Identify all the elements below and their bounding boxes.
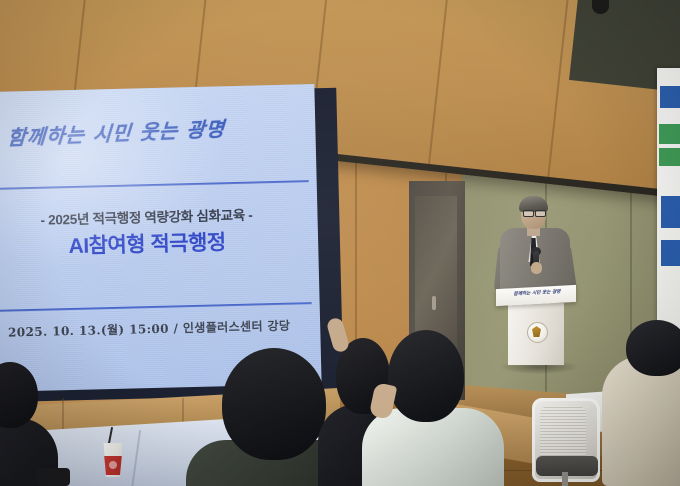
slide-rule-bottom: [0, 302, 312, 312]
roll-up-banner: [657, 68, 680, 348]
door-handle-icon[interactable]: [432, 296, 436, 310]
banner-block-blue: [660, 86, 680, 108]
banner-block-green: [659, 148, 680, 166]
speaker-glasses-icon: [523, 210, 534, 217]
speaker-hand: [531, 262, 542, 274]
banner-block-blue: [661, 196, 680, 228]
slide-datetime-venue: 2025. 10. 13.(월) 15:00 / 인생플러스센터 강당: [0, 316, 308, 341]
attendee-center-head: [222, 348, 326, 460]
banner-block-green: [659, 124, 680, 144]
attendee-light-shirt-head: [388, 330, 464, 422]
attendee-vest-head: [626, 320, 680, 376]
slide-title: AI참여형 적극행정: [0, 224, 306, 262]
attendee-vest-body: [602, 356, 680, 486]
banner-block-blue: [661, 240, 680, 266]
slide-handwritten-slogan: 함께하는 시민 웃는 광명: [7, 111, 279, 151]
cup-logo-icon: [109, 461, 117, 469]
slide-rule-top: [0, 180, 309, 190]
table-item-dark: [36, 468, 70, 486]
speaker-glasses-icon: [535, 210, 546, 217]
projection-screen: 함께하는 시민 웃는 광명 - 2025년 적극행정 역량강화 심화교육 - A…: [0, 84, 322, 392]
photo-scene: 함께하는 시민 웃는 광명 - 2025년 적극행정 역량강화 심화교육 - A…: [0, 0, 680, 486]
